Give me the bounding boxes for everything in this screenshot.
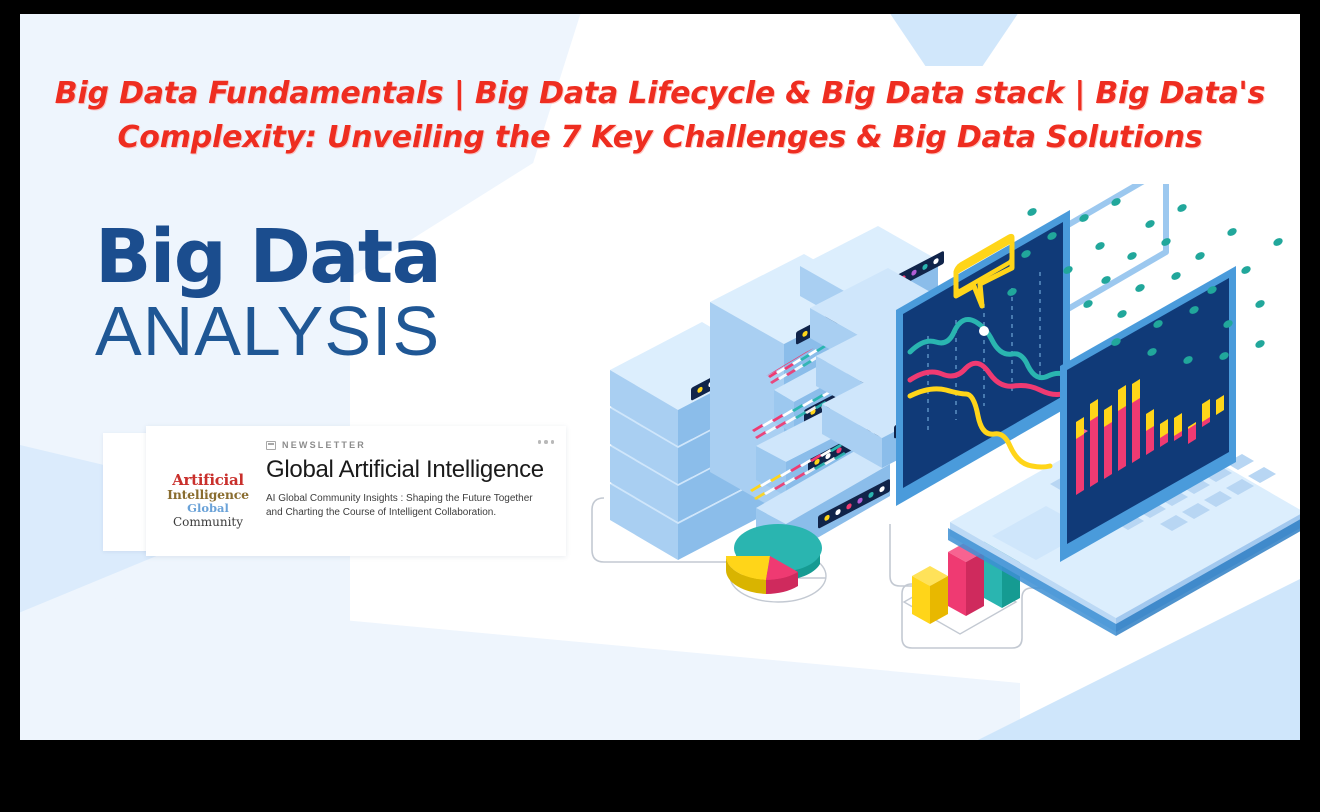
newsletter-logo: Artificial Intelligence Global Community [160, 436, 256, 548]
newsletter-kicker: NEWSLETTER [266, 440, 552, 450]
logo-line-global: Global [187, 502, 229, 515]
brand-lockup: Big Data ANALYSIS [95, 219, 440, 367]
big-data-analysis-illustration [560, 184, 1300, 684]
more-options-icon[interactable] [538, 440, 555, 444]
logo-line-artificial: Artificial [172, 473, 244, 488]
page-title: Big Data Fundamentals | Big Data Lifecyc… [20, 72, 1300, 160]
more-dot-2 [544, 440, 548, 444]
logo-line-intelligence: Intelligence [167, 488, 249, 502]
logo-line-community: Community [173, 515, 243, 529]
screenshot-root: Big Data Fundamentals | Big Data Lifecyc… [0, 0, 1320, 812]
newsletter-title[interactable]: Global Artificial Intelligence [266, 455, 552, 485]
brand-lockup-line-2: ANALYSIS [95, 295, 440, 367]
newsletter-subtitle: AI Global Community Insights : Shaping t… [266, 492, 552, 520]
pie-chart [726, 524, 826, 602]
more-dot-3 [551, 440, 555, 444]
brand-lockup-line-1: Big Data [95, 219, 440, 295]
banner-image: Big Data Fundamentals | Big Data Lifecyc… [20, 14, 1300, 740]
page-title-line-1: Big Data Fundamentals | Big Data Lifecyc… [20, 72, 1300, 116]
newsletter-card-body: NEWSLETTER Global Artificial Intelligenc… [256, 436, 552, 548]
newsletter-icon [266, 441, 276, 450]
newsletter-kicker-label: NEWSLETTER [282, 440, 366, 450]
more-dot-1 [538, 440, 542, 444]
newsletter-card[interactable]: Artificial Intelligence Global Community… [146, 426, 566, 556]
page-title-line-2: Complexity: Unveiling the 7 Key Challeng… [20, 116, 1300, 160]
